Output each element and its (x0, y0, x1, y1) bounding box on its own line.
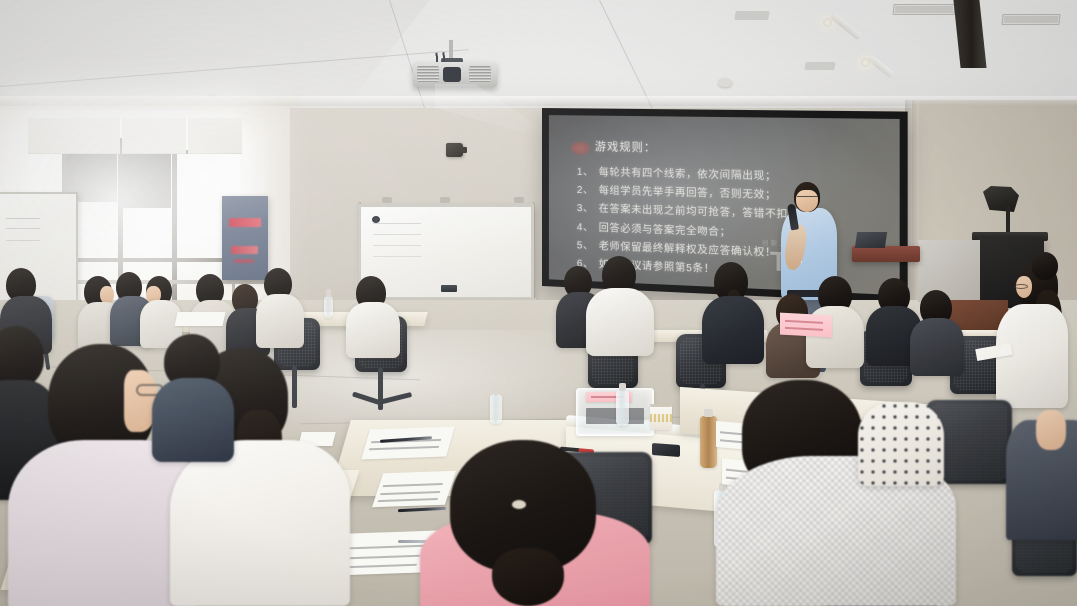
window-blind (122, 118, 186, 154)
hvac-vent (892, 4, 955, 15)
whiteboard-eraser-icon (441, 285, 457, 292)
person-arm (1036, 410, 1066, 450)
laptop-icon (855, 232, 887, 248)
handout-paper (361, 427, 455, 460)
window-blind (188, 118, 242, 154)
pink-answer-card (780, 313, 832, 338)
projector-vent (469, 66, 491, 82)
wall-ceiling-joint (0, 96, 1077, 106)
rule-number: 4、 (577, 222, 594, 234)
handout-paper (372, 471, 456, 507)
person-body (152, 378, 234, 462)
rule-text: 每轮共有四个线索，依次间隔出现； (599, 167, 777, 182)
whiteboard-clip (382, 197, 392, 203)
person-body (346, 302, 400, 358)
rule-number: 5、 (577, 240, 594, 252)
hair-tie (512, 500, 526, 509)
projector-lens-icon (443, 67, 461, 82)
ceiling-seam (599, 0, 653, 108)
track-light (867, 54, 895, 78)
rule-text: 回答必须与答案完全吻合； (599, 222, 731, 238)
poster-subline (231, 246, 258, 254)
person-body (996, 304, 1068, 408)
rule-number: 1、 (577, 167, 594, 178)
presenter-face (796, 190, 818, 212)
person-body (586, 288, 654, 356)
rule-text: 每组学员先举手再回答，否则无效； (599, 186, 777, 202)
slide-title: 游戏规则： (595, 138, 656, 155)
glasses-icon (1014, 284, 1028, 289)
person-body (858, 402, 944, 486)
wall-camera-icon (446, 143, 463, 157)
water-bottle (616, 390, 629, 426)
poster-subline (234, 259, 254, 263)
window-mullion (172, 140, 177, 310)
person-body (910, 318, 964, 376)
projector-vent (417, 66, 439, 82)
window-pane-dark (123, 152, 171, 208)
smartphone-icon (652, 443, 680, 457)
ceiling-access-panel (734, 11, 770, 20)
person-body (256, 294, 304, 348)
rule-text: 老师保留最终解释权及应答确认权！ (599, 241, 777, 259)
window-blind (28, 118, 120, 154)
ceiling-access-panel (804, 62, 835, 70)
rule-number: 2、 (577, 185, 594, 197)
poster-headline (229, 218, 261, 227)
person-body (170, 440, 350, 606)
person-body (702, 296, 764, 364)
ceiling-light-icon (861, 58, 870, 67)
glasses-icon (797, 196, 818, 200)
paper-cup (650, 404, 672, 430)
ceiling-dark-slot (953, 0, 986, 68)
red-desk (852, 246, 920, 262)
red-text-poster (222, 196, 268, 280)
whiteboard-clip (440, 197, 450, 203)
person-ponytail (492, 548, 564, 606)
rule-number: 3、 (577, 203, 594, 215)
track-light (830, 12, 862, 40)
handout-paper (175, 312, 226, 326)
ceiling-projector (413, 62, 497, 87)
water-bottle (490, 394, 502, 424)
ceiling-light-icon (823, 18, 832, 27)
slide-bullet-icon (571, 141, 590, 154)
rule-text: 在答案未出现之前均可抢答，答错不扣分； (599, 204, 812, 222)
hvac-vent (1001, 14, 1060, 25)
chair-leg (292, 366, 297, 408)
smoke-detector-icon (718, 78, 732, 87)
water-bottle (324, 296, 333, 318)
whiteboard-clip (514, 197, 524, 203)
training-room-photo: 游戏规则： 1、每轮共有四个线索，依次间隔出现； 2、每组学员先举手再回答，否则… (0, 0, 1077, 606)
drink-bottle (700, 416, 717, 468)
person-head (1032, 252, 1058, 280)
whiteboard-magnet-icon (372, 216, 380, 223)
